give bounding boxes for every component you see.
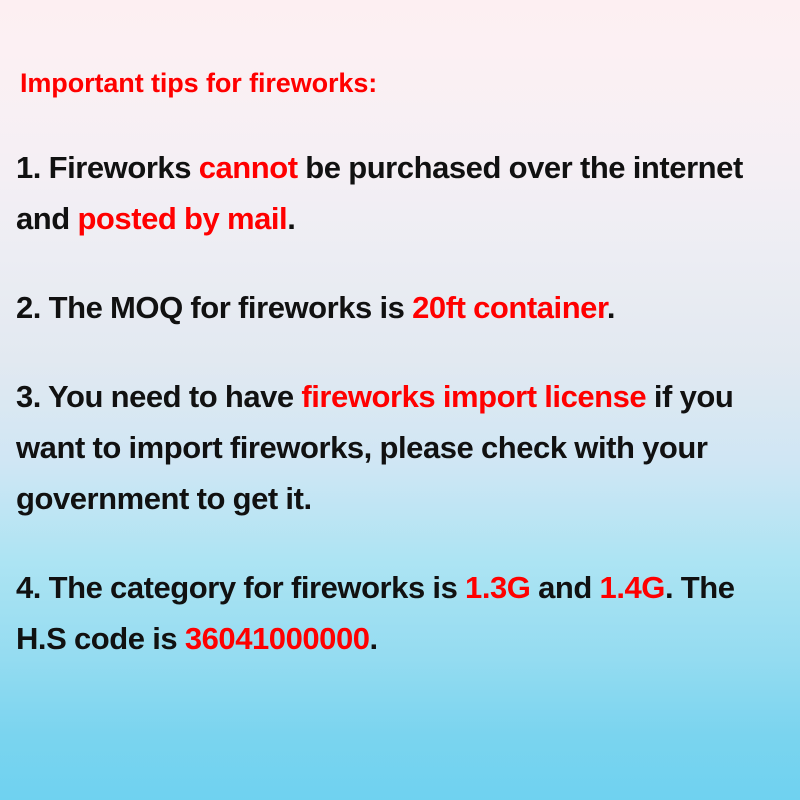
text-run: 1. Fireworks (16, 150, 199, 185)
tip-item-2: 2. The MOQ for fireworks is 20ft contain… (16, 282, 784, 333)
tip-item-1: 1. Fireworks cannot be purchased over th… (16, 142, 784, 244)
text-run: . (370, 621, 378, 656)
page-title: Important tips for fireworks: (20, 66, 784, 100)
text-run: . (287, 201, 295, 236)
tip-item-3: 3. You need to have fireworks import lic… (16, 371, 784, 524)
text-run: 4. The category for fireworks is (16, 570, 465, 605)
fireworks-tips-poster: Important tips for fireworks: 1. Firewor… (0, 0, 800, 800)
highlighted-phrase: 36041000000 (185, 621, 370, 656)
tip-item-4: 4. The category for fireworks is 1.3G an… (16, 562, 784, 664)
highlighted-phrase: 1.3G (465, 570, 530, 605)
highlighted-phrase: 20ft container (412, 290, 607, 325)
text-run: 3. You need to have (16, 379, 301, 414)
highlighted-phrase: fireworks import license (301, 379, 646, 414)
text-run: . (607, 290, 615, 325)
text-run: 2. The MOQ for fireworks is (16, 290, 412, 325)
highlighted-phrase: 1.4G (600, 570, 665, 605)
highlighted-phrase: posted by mail (77, 201, 287, 236)
text-run: and (530, 570, 599, 605)
highlighted-phrase: cannot (199, 150, 298, 185)
poster-content: Important tips for fireworks: 1. Firewor… (16, 66, 784, 664)
